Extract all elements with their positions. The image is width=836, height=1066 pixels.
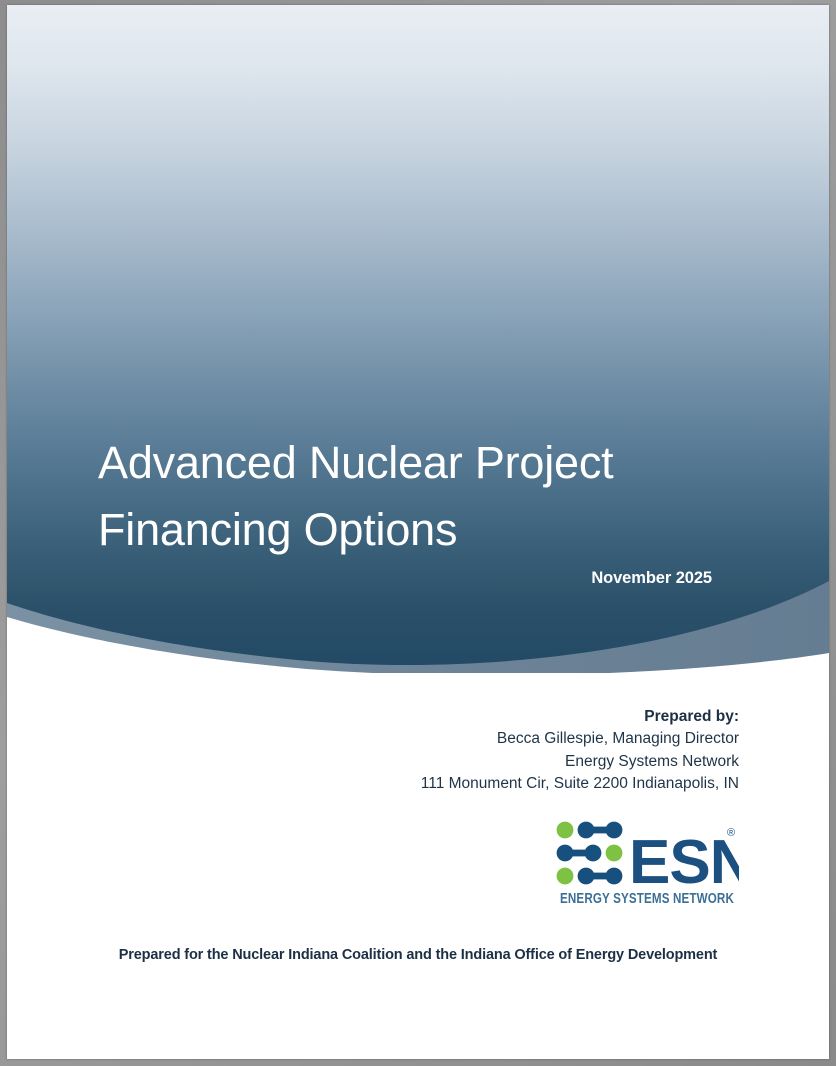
document-title-line-1: Advanced Nuclear Project xyxy=(98,429,718,496)
logo-node-blue-3a xyxy=(578,868,595,885)
logo-node-green-3 xyxy=(557,868,574,885)
prepared-by-organization: Energy Systems Network xyxy=(307,751,739,774)
page-frame: Advanced Nuclear Project Financing Optio… xyxy=(0,0,836,1066)
prepared-by-address: 111 Monument Cir, Suite 2200 Indianapoli… xyxy=(307,773,739,796)
document-title-line-2: Financing Options xyxy=(98,496,718,563)
esn-logo: ESN ® ENERGY SYSTEMS NETWORK xyxy=(555,819,739,909)
document-date: November 2025 xyxy=(98,569,712,588)
logo-node-blue-3b xyxy=(606,868,623,885)
prepared-for-note: Prepared for the Nuclear Indiana Coaliti… xyxy=(45,947,791,963)
cover-hero-banner: Advanced Nuclear Project Financing Optio… xyxy=(7,5,829,673)
logo-registered-icon: ® xyxy=(727,827,735,839)
logo-wordmark: ESN xyxy=(629,828,739,897)
logo-node-blue-2a xyxy=(557,845,574,862)
logo-node-green-2 xyxy=(606,845,623,862)
logo-node-green-1 xyxy=(557,822,574,839)
logo-node-blue-2b xyxy=(585,845,602,862)
document-page: Advanced Nuclear Project Financing Optio… xyxy=(7,5,829,1059)
document-title: Advanced Nuclear Project Financing Optio… xyxy=(98,429,718,563)
hero-main-shape xyxy=(7,5,829,665)
prepared-by-heading: Prepared by: xyxy=(307,705,739,728)
prepared-by-block: Prepared by: Becca Gillespie, Managing D… xyxy=(307,705,739,796)
esn-node-mark xyxy=(557,822,623,885)
logo-node-blue-1b xyxy=(606,822,623,839)
logo-tagline: ENERGY SYSTEMS NETWORK xyxy=(560,890,734,907)
logo-node-blue-1a xyxy=(578,822,595,839)
prepared-by-author: Becca Gillespie, Managing Director xyxy=(307,728,739,751)
